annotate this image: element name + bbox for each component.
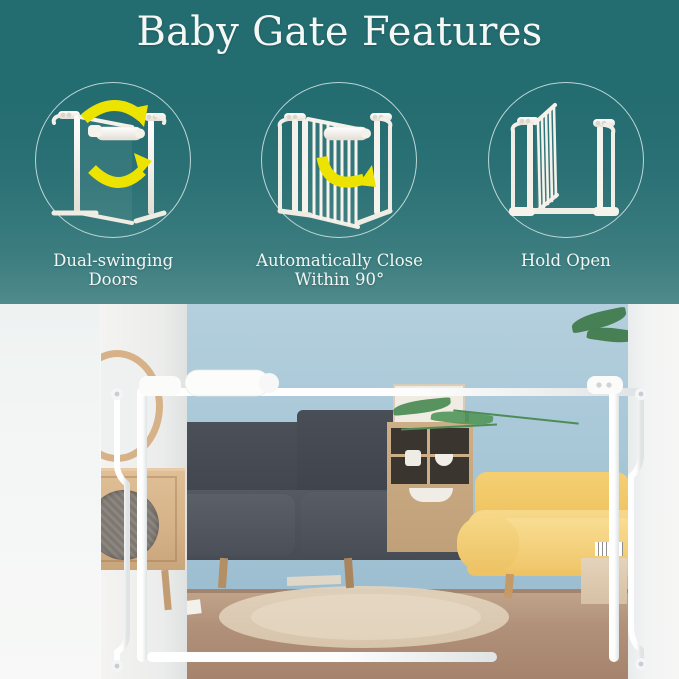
feature-circle-3 <box>488 82 644 238</box>
baby-gate-dual-swing-icon <box>36 83 192 239</box>
feature-caption: Hold Open <box>521 251 611 270</box>
photo-left-margin <box>0 304 101 679</box>
feature-item-automatically-close[interactable]: Automatically Close Within 90° <box>226 82 452 297</box>
baby-gate-auto-close-icon <box>262 83 418 239</box>
product-room-photo <box>101 304 679 679</box>
installed-baby-gate <box>101 304 679 679</box>
feature-item-hold-open[interactable]: Hold Open <box>453 82 679 297</box>
feature-circle-1 <box>35 82 191 238</box>
page-title: Baby Gate Features <box>0 8 679 56</box>
feature-caption: Dual-swinging Doors <box>53 251 173 289</box>
feature-list: Dual-swinging Doors <box>0 82 679 297</box>
feature-item-dual-swinging-doors[interactable]: Dual-swinging Doors <box>0 82 226 297</box>
feature-circle-2 <box>261 82 417 238</box>
baby-gate-hold-open-icon <box>489 83 645 239</box>
product-feature-infographic: Baby Gate Features <box>0 0 679 679</box>
feature-caption: Automatically Close Within 90° <box>256 251 423 289</box>
